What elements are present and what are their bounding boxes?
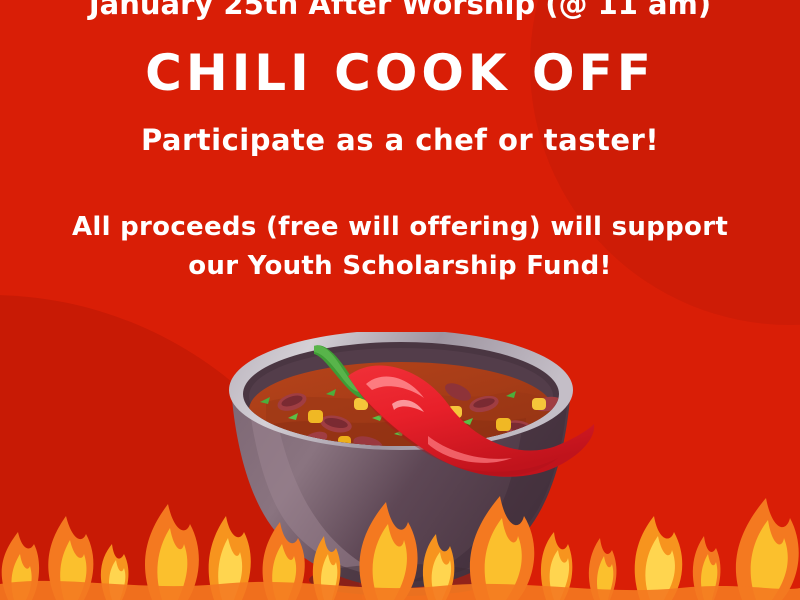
flame-group	[0, 496, 800, 600]
event-date-line: January 25th After Worship (@ 11 am)	[0, 0, 800, 21]
flame	[359, 502, 417, 600]
body-line-2: our Youth Scholarship Fund!	[0, 247, 800, 286]
fire-flames	[0, 440, 800, 600]
poster-body: All proceeds (free will offering) will s…	[0, 208, 800, 286]
poster-title: CHILI COOK OFF	[0, 44, 800, 102]
flame	[145, 504, 199, 600]
flame	[635, 516, 683, 600]
poster-subtitle: Participate as a chef or taster!	[0, 122, 800, 158]
chili-cook-off-poster: January 25th After Worship (@ 11 am) CHI…	[0, 0, 800, 600]
flame	[736, 498, 799, 600]
body-line-1: All proceeds (free will offering) will s…	[0, 208, 800, 247]
